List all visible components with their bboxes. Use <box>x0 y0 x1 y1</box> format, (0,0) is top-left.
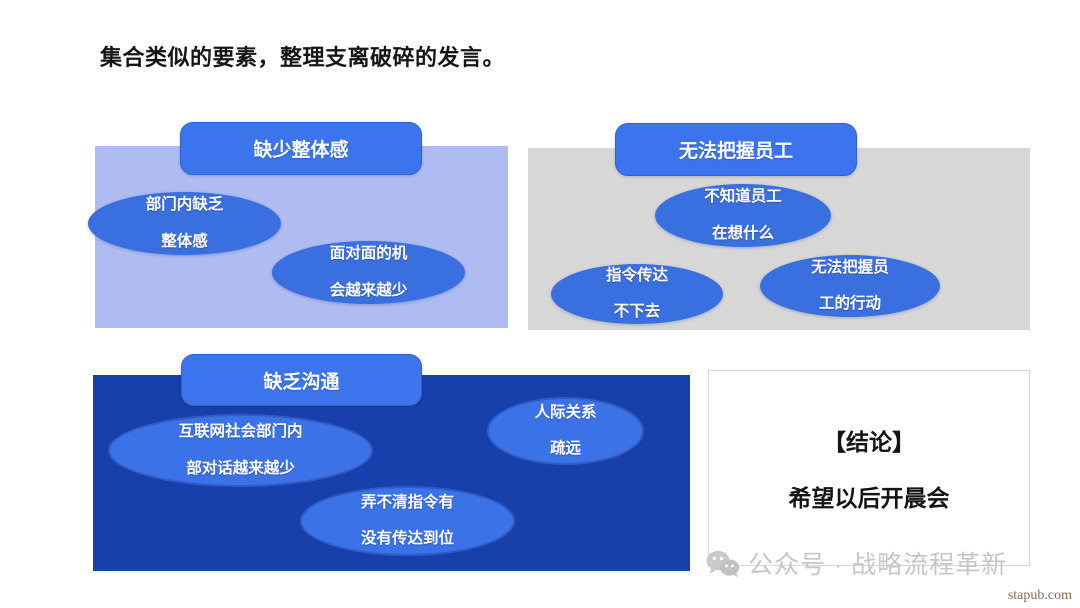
note-line-1: 人际关系 <box>528 404 602 422</box>
panel-header-no-comm-label: 缺乏沟通 <box>263 367 339 394</box>
conclusion-card: 【结论】 希望以后开晨会 <box>708 370 1030 566</box>
note-line-1: 无法把握员 <box>805 259 895 277</box>
note-line-2: 疏远 <box>528 440 602 458</box>
note-line-1: 部门内缺乏 <box>140 196 230 214</box>
note-face-to-face[interactable]: 面对面的机 会越来越少 <box>272 241 465 304</box>
note-unclear-order-text: 弄不清指令有 没有传达到位 <box>349 494 466 549</box>
note-unclear-order[interactable]: 弄不清指令有 没有传达到位 <box>302 488 513 554</box>
panel-header-no-grasp-label: 无法把握员工 <box>679 136 793 163</box>
note-line-2: 会越来越少 <box>324 282 414 300</box>
note-line-1: 不知道员工 <box>698 188 788 206</box>
note-dept-unity[interactable]: 部门内缺乏 整体感 <box>88 192 281 255</box>
note-line-1: 面对面的机 <box>324 245 414 263</box>
note-no-action-text: 无法把握员 工的行动 <box>799 259 901 314</box>
slide-canvas: 集合类似的要素，整理支离破碎的发言。 缺少整体感 部门内缺乏 整体感 面对面的机… <box>0 0 1080 608</box>
panel-header-lack-unity[interactable]: 缺少整体感 <box>180 122 422 175</box>
note-face-to-face-text: 面对面的机 会越来越少 <box>318 245 420 300</box>
note-internet-talk[interactable]: 互联网社会部门内 部对话越来越少 <box>110 416 371 485</box>
conclusion-label: 【结论】 <box>823 423 915 457</box>
page-title: 集合类似的要素，整理支离破碎的发言。 <box>100 40 505 72</box>
note-no-action[interactable]: 无法把握员 工的行动 <box>760 255 940 317</box>
note-unknown-think-text: 不知道员工 在想什么 <box>692 188 794 243</box>
note-line-2: 部对话越来越少 <box>172 460 308 478</box>
panel-header-lack-unity-label: 缺少整体感 <box>253 135 348 162</box>
note-line-1: 互联网社会部门内 <box>172 423 308 441</box>
note-line-1: 指令传达 <box>600 267 674 285</box>
panel-header-no-grasp[interactable]: 无法把握员工 <box>615 123 857 176</box>
note-line-2: 在想什么 <box>698 225 788 243</box>
note-line-2: 工的行动 <box>805 295 895 313</box>
note-line-2: 整体感 <box>140 233 230 251</box>
site-credit: stapub.com <box>1008 588 1072 604</box>
note-order-stuck-text: 指令传达 不下去 <box>594 267 680 322</box>
note-distant-rel-text: 人际关系 疏远 <box>522 404 608 459</box>
note-line-2: 没有传达到位 <box>355 530 460 548</box>
note-internet-talk-text: 互联网社会部门内 部对话越来越少 <box>166 423 314 478</box>
note-dept-unity-text: 部门内缺乏 整体感 <box>134 196 236 251</box>
note-order-stuck[interactable]: 指令传达 不下去 <box>551 264 723 324</box>
note-line-2: 不下去 <box>600 303 674 321</box>
conclusion-text: 希望以后开晨会 <box>789 479 950 513</box>
note-unknown-think[interactable]: 不知道员工 在想什么 <box>655 184 831 247</box>
panel-header-no-comm[interactable]: 缺乏沟通 <box>181 354 422 406</box>
note-distant-rel[interactable]: 人际关系 疏远 <box>489 399 642 463</box>
note-line-1: 弄不清指令有 <box>355 494 460 512</box>
